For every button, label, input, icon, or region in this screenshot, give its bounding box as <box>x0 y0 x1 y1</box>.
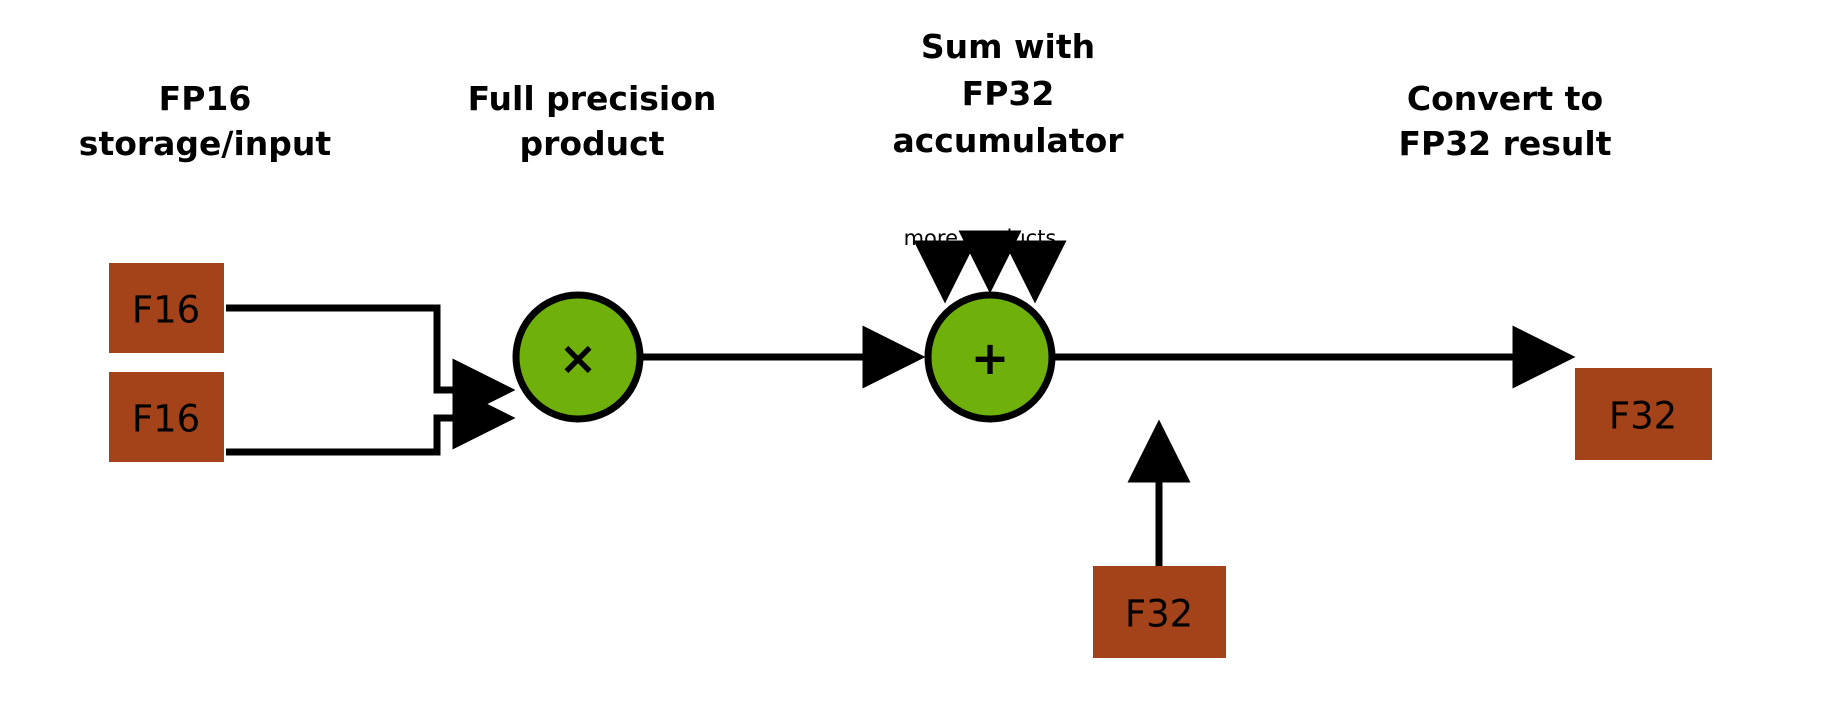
column-header-line: Sum with <box>921 27 1095 66</box>
box-f32-result-label: F32 <box>1609 395 1677 438</box>
diagram-canvas: FP16 storage/input Full precision produc… <box>0 0 1836 704</box>
box-f16-bottom[interactable]: F16 <box>109 372 224 462</box>
column-header-fp16-storage: FP16 storage/input <box>79 79 332 163</box>
multiply-icon: × <box>559 331 598 385</box>
box-f32-accumulator-label: F32 <box>1125 593 1193 636</box>
operator-multiply-node[interactable]: × <box>516 295 640 419</box>
column-header-line: FP32 <box>962 74 1055 113</box>
data-boxes: F16 F16 F32 F32 <box>109 263 1712 658</box>
wire-f16-bottom-to-multiply <box>226 418 505 452</box>
mixed-precision-dataflow-diagram: FP16 storage/input Full precision produc… <box>0 0 1836 704</box>
annotations: more products <box>904 226 1057 250</box>
connector-wires <box>226 262 1565 566</box>
column-header-convert-result: Convert to FP32 result <box>1398 79 1611 163</box>
column-header-line: storage/input <box>79 124 332 163</box>
column-header-line: Convert to <box>1407 79 1603 118</box>
column-header-sum-accumulator: Sum with FP32 accumulator <box>892 27 1124 160</box>
annotation-more-products-label: more products <box>904 226 1057 250</box>
box-f16-top-label: F16 <box>132 289 200 332</box>
operator-add-node[interactable]: + <box>928 295 1052 419</box>
box-f32-result[interactable]: F32 <box>1575 368 1712 460</box>
wire-f16-top-to-multiply <box>226 308 505 390</box>
column-header-line: FP32 result <box>1398 124 1611 163</box>
column-header-line: product <box>519 124 664 163</box>
box-f32-accumulator[interactable]: F32 <box>1093 566 1226 658</box>
column-header-line: Full precision <box>468 79 717 118</box>
column-header-full-precision: Full precision product <box>468 79 717 163</box>
column-header-line: accumulator <box>892 121 1124 160</box>
column-headers: FP16 storage/input Full precision produc… <box>79 27 1612 163</box>
box-f16-bottom-label: F16 <box>132 398 200 441</box>
column-header-line: FP16 <box>159 79 252 118</box>
plus-icon: + <box>971 331 1010 385</box>
box-f16-top[interactable]: F16 <box>109 263 224 353</box>
